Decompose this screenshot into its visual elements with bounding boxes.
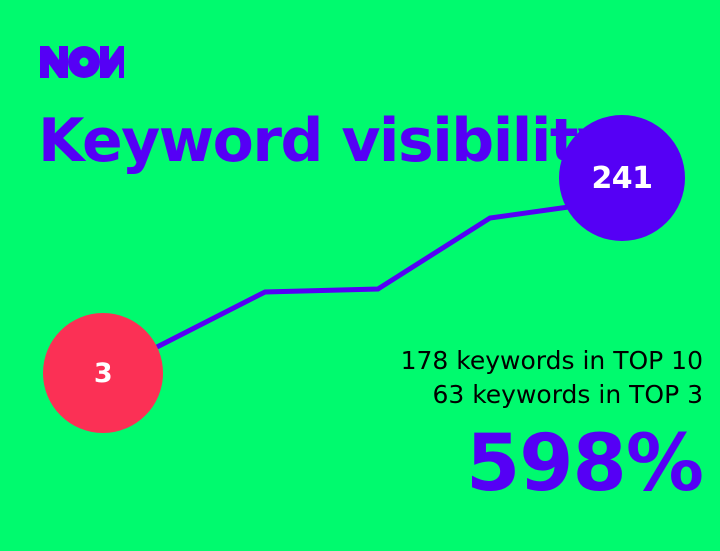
keyword-stats: 178 keywords in TOP 10 63 keywords in TO… [401, 344, 703, 412]
end-value-bubble: 241 [559, 115, 685, 241]
non-logo-icon [40, 46, 124, 78]
stat-top10: 178 keywords in TOP 10 [401, 344, 703, 378]
trend-line [157, 204, 590, 347]
start-value-bubble: 3 [43, 313, 163, 433]
start-value-label: 3 [94, 358, 112, 389]
non-logo [40, 46, 124, 78]
stat-top3: 63 keywords in TOP 3 [401, 378, 703, 412]
end-value-label: 241 [591, 161, 652, 196]
infographic-canvas: Keyword visibility 3 241 178 keywords in… [0, 0, 720, 551]
growth-percentage: 598% [466, 418, 703, 510]
page-title: Keyword visibility [38, 106, 615, 176]
